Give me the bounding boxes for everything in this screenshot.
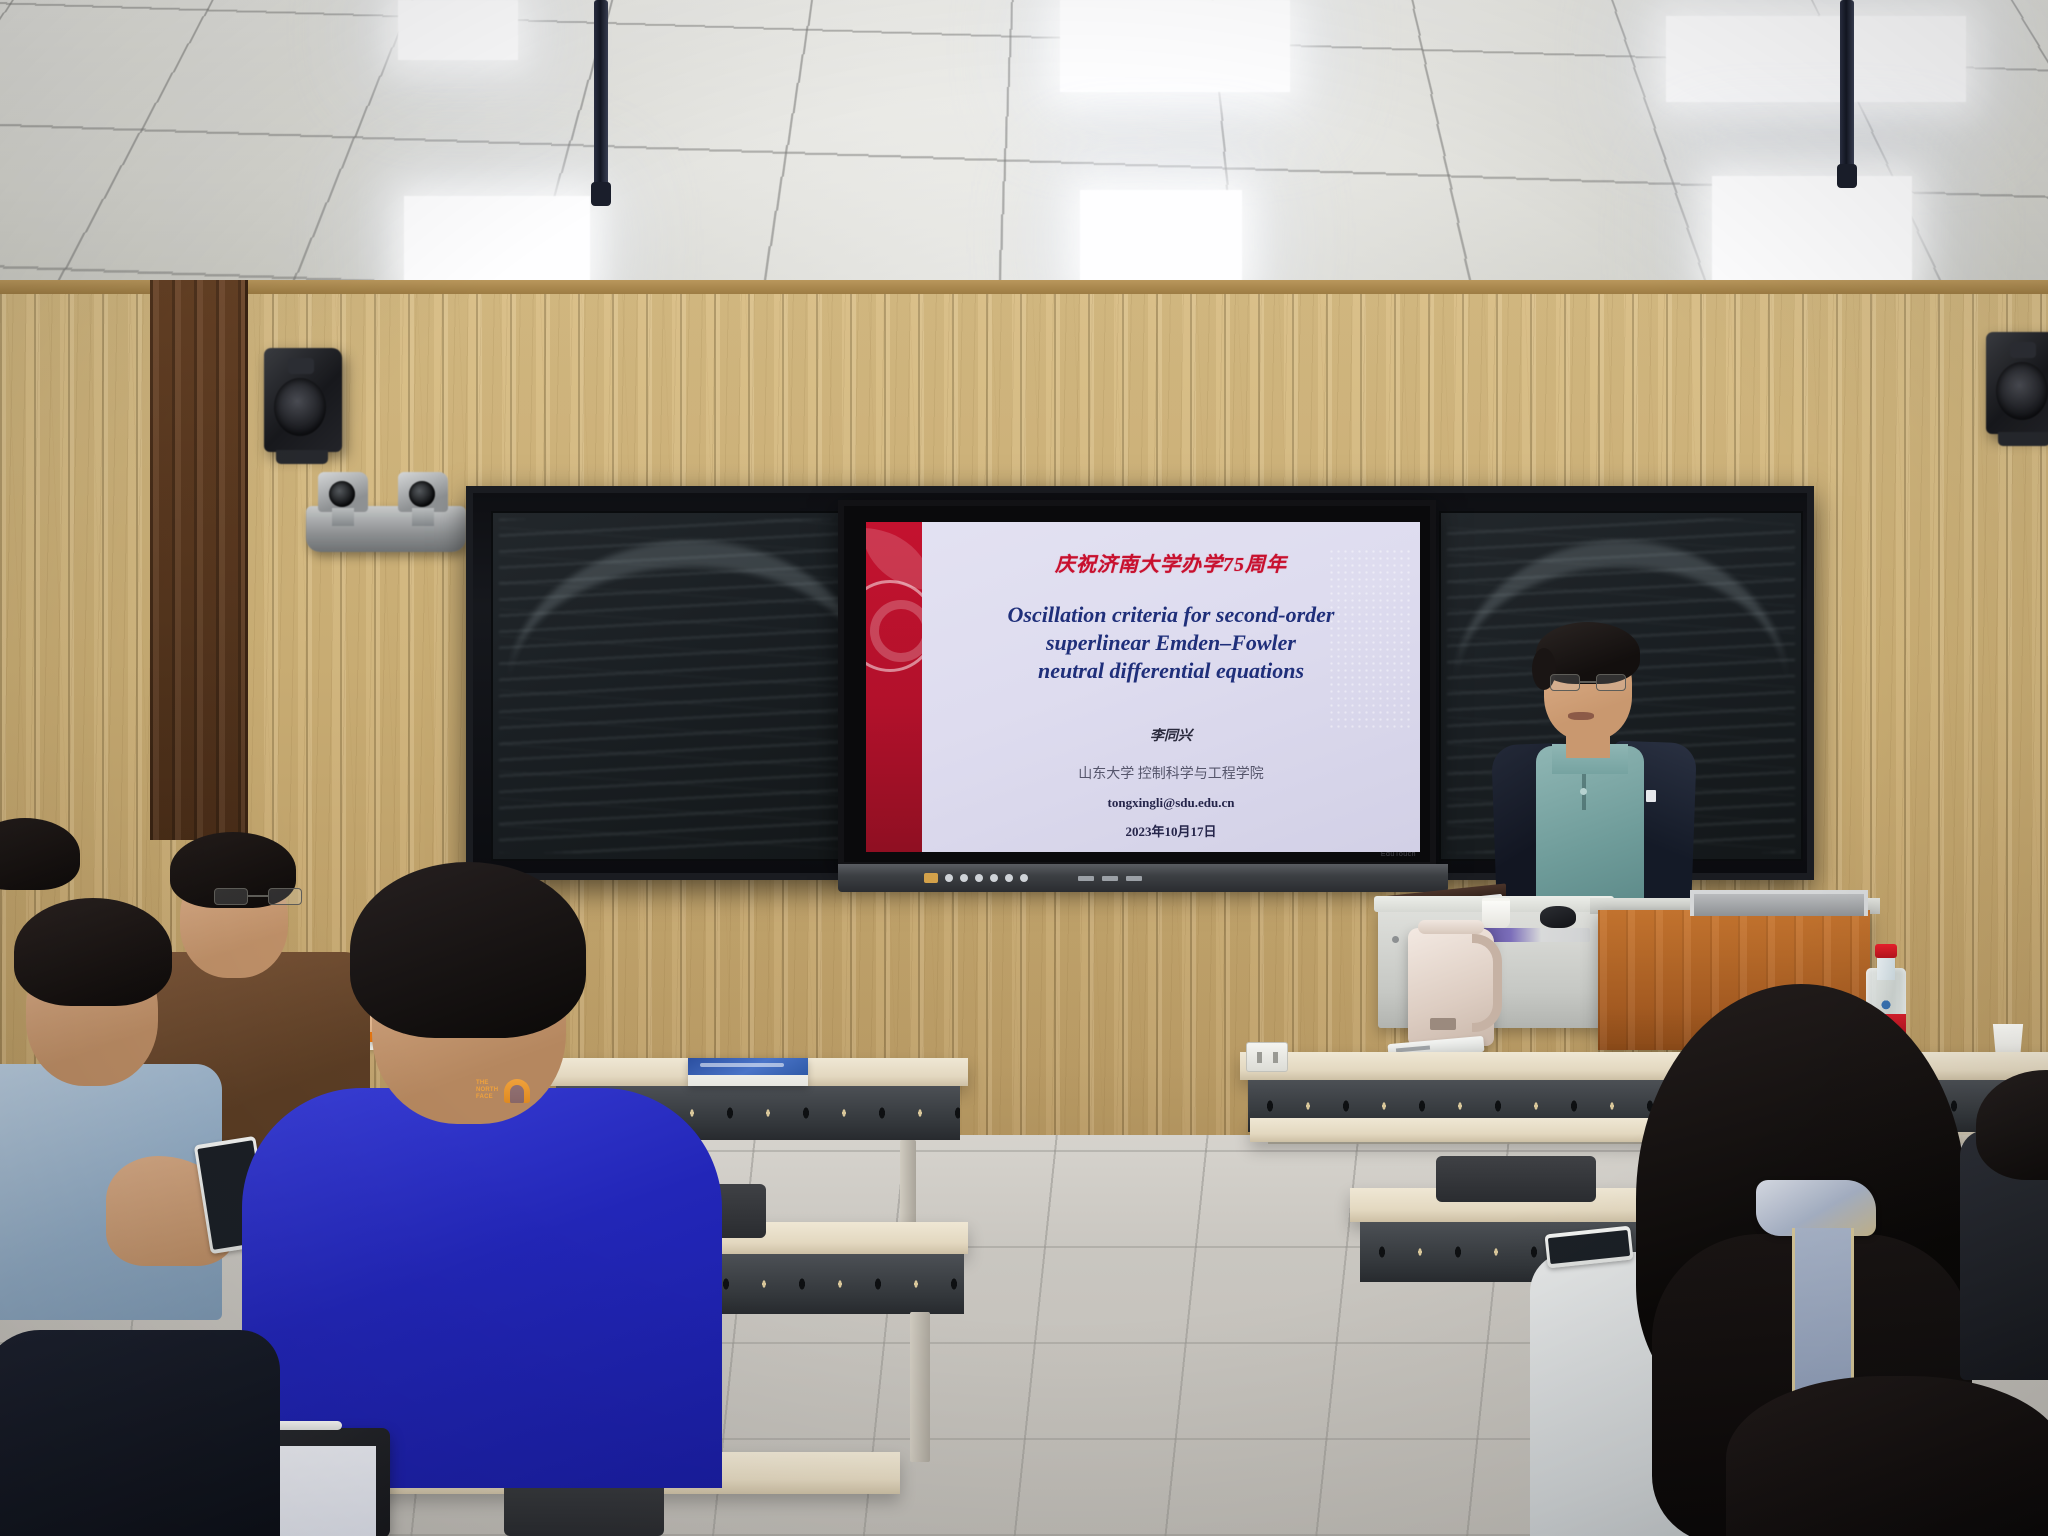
- camera-lens-icon: [409, 481, 435, 507]
- speaker-bracket: [276, 450, 328, 464]
- slide-author: 李同兴: [1150, 725, 1192, 745]
- floor-outlet[interactable]: [1246, 1042, 1288, 1072]
- display-button-3[interactable]: [975, 874, 983, 882]
- display-buttons[interactable]: [924, 873, 1028, 883]
- slide-email: tongxingli@sdu.edu.cn: [1108, 795, 1235, 811]
- glasses-icon: [1550, 674, 1626, 691]
- speaker-cone: [1996, 362, 2048, 420]
- camera-stem: [412, 508, 434, 526]
- outlet-slot-1: [1257, 1052, 1262, 1063]
- wall-top-trim: [0, 280, 2048, 294]
- outlet-slot-2: [1273, 1052, 1278, 1063]
- electric-kettle: [1408, 928, 1494, 1046]
- presenter-polo-button: [1580, 788, 1587, 795]
- person-hair: [14, 898, 172, 1006]
- slide-anniversary-banner: 庆祝济南大学办学75周年: [1055, 548, 1287, 577]
- chalkboard-left-panel: [491, 511, 891, 861]
- north-face-logo-icon: THE NORTH FACE: [476, 1078, 530, 1104]
- speaker-tweeter: [2010, 342, 2036, 358]
- display-brand-label: EduTouch: [1381, 851, 1416, 858]
- slide-date: 2023年10月17日: [1125, 821, 1216, 840]
- smart-display[interactable]: ☺ EduTouch 庆祝济南大学办学75周年 Oscillation crit…: [838, 500, 1436, 868]
- ceiling-light-4: [404, 196, 590, 292]
- wall-speaker-left: [264, 348, 342, 452]
- north-face-dome-icon: [504, 1079, 530, 1103]
- slide-red-sidebar: [866, 522, 922, 852]
- slide-title: Oscillation criteria for second-order su…: [1008, 601, 1335, 685]
- presentation-slide: 庆祝济南大学办学75周年 Oscillation criteria for se…: [866, 522, 1420, 852]
- phone-screen: [1548, 1230, 1630, 1264]
- chalk-arc: [509, 541, 873, 832]
- ceiling-light-1: [398, 0, 518, 60]
- display-button-1[interactable]: [945, 874, 953, 882]
- hdmi-port[interactable]: [1126, 876, 1142, 881]
- display-control-bar[interactable]: [838, 864, 1448, 892]
- hair-ribbon: [1756, 1180, 1876, 1236]
- slide-content: 庆祝济南大学办学75周年 Oscillation criteria for se…: [922, 522, 1420, 852]
- ceiling-light-2: [1060, 0, 1290, 92]
- kettle-base-plate: [1430, 1018, 1456, 1030]
- slide-affiliation: 山东大学 控制科学与工程学院: [1078, 763, 1264, 783]
- presenter-jacket-logo: [1646, 790, 1656, 802]
- teacher-desk-cup: [1482, 898, 1510, 928]
- north-face-wordmark: THE NORTH FACE: [476, 1080, 506, 1101]
- classroom-photo-scene: ☺ EduTouch 庆祝济南大学办学75周年 Oscillation crit…: [0, 0, 2048, 1536]
- person-hair: [1976, 1070, 2048, 1180]
- display-ports: [1078, 876, 1142, 881]
- power-button[interactable]: [924, 873, 938, 883]
- display-button-2[interactable]: [960, 874, 968, 882]
- presenter: [1470, 618, 1710, 908]
- audience-person-bottom-right: [1726, 1376, 2048, 1536]
- ceiling-light-5: [1080, 190, 1242, 286]
- person-shoulder: [0, 1330, 280, 1536]
- bottle-neck: [1877, 956, 1895, 980]
- speaker-cone: [274, 378, 326, 436]
- desk-leg-left-front: [910, 1312, 930, 1462]
- slide-title-line-3: neutral differential equations: [1008, 657, 1335, 685]
- ceiling-hanger-right: [1840, 0, 1854, 178]
- kettle-handle: [1472, 934, 1502, 1032]
- kettle-lid: [1418, 920, 1484, 934]
- audience-person-bottom-left: [0, 1330, 280, 1536]
- usb-port-2[interactable]: [1102, 876, 1118, 881]
- camera-stem: [332, 508, 354, 526]
- desktop-monitor: [1690, 890, 1868, 916]
- ceiling: [0, 0, 2048, 296]
- bottle-cap: [1875, 944, 1897, 958]
- display-button-4[interactable]: [990, 874, 998, 882]
- ceiling-hanger-left: [594, 0, 608, 196]
- dark-wood-column: [150, 280, 248, 840]
- computer-mouse[interactable]: [1540, 906, 1576, 928]
- ptz-camera-right: [398, 472, 448, 526]
- desk-lock-icon: [1392, 936, 1399, 943]
- usb-port-1[interactable]: [1078, 876, 1094, 881]
- display-button-5[interactable]: [1005, 874, 1013, 882]
- ceiling-light-3: [1666, 16, 1966, 102]
- audience-person-far-right: [1960, 1070, 2048, 1370]
- brand-line-2: NORTH: [476, 1087, 498, 1093]
- brand-line-3: FACE: [476, 1094, 493, 1100]
- slide-dot-pattern: [1328, 548, 1414, 728]
- person-hair: [1726, 1376, 2048, 1536]
- slide-title-line-1: Oscillation criteria for second-order: [1008, 601, 1335, 629]
- speaker-tweeter: [288, 358, 314, 374]
- ceiling-light-6: [1712, 176, 1912, 286]
- wall-speaker-right: [1986, 332, 2048, 434]
- display-button-6[interactable]: [1020, 874, 1028, 882]
- ptz-camera-left: [318, 472, 368, 526]
- speaker-bracket: [1998, 432, 2048, 446]
- person-hair: [0, 818, 80, 890]
- person-hair: [350, 862, 586, 1038]
- presenter-mouth: [1568, 712, 1594, 720]
- camera-lens-icon: [329, 481, 355, 507]
- brand-line-1: THE: [476, 1080, 489, 1086]
- slide-title-line-2: superlinear Emden–Fowler: [1008, 629, 1335, 657]
- audience-person-north-face: [222, 876, 782, 1486]
